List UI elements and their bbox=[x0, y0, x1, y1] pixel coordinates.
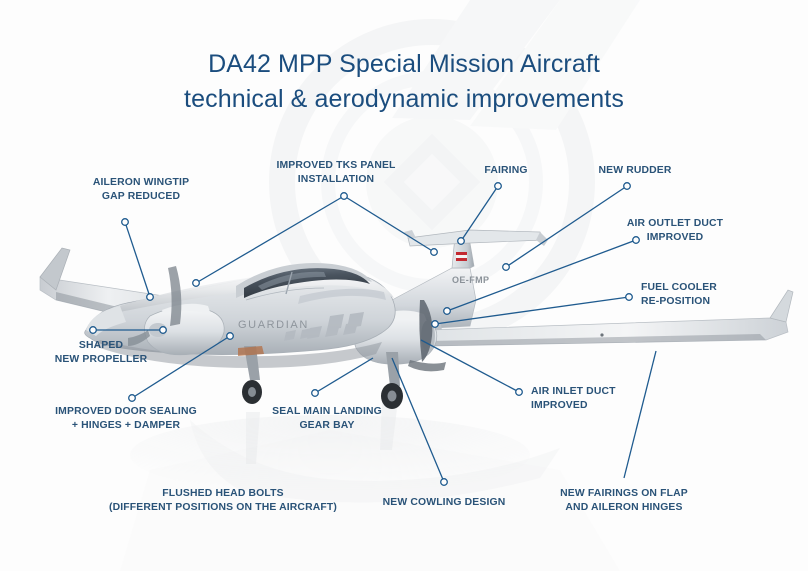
callout-line: RE-POSITION bbox=[641, 295, 717, 309]
callout-improved-door-sealing[interactable]: IMPROVED DOOR SEALING+ HINGES + DAMPER bbox=[55, 405, 197, 433]
leader-new-fairings-flap bbox=[624, 351, 656, 478]
leader-tks-panel bbox=[196, 193, 437, 283]
callout-improved-tks-panel-installation[interactable]: IMPROVED TKS PANELINSTALLATION bbox=[276, 159, 395, 187]
callout-line: FUEL COOLER bbox=[641, 281, 717, 295]
callout-seal-main-landing-gear-bay[interactable]: SEAL MAIN LANDINGGEAR BAY bbox=[272, 405, 382, 433]
callout-line: NEW COWLING DESIGN bbox=[383, 496, 506, 510]
callout-air-inlet-duct-improved[interactable]: AIR INLET DUCTIMPROVED bbox=[531, 385, 616, 413]
leader-wing-root-left bbox=[147, 294, 154, 301]
leader-seal-main-landing-gear bbox=[312, 358, 373, 396]
callout-line: NEW RUDDER bbox=[598, 164, 671, 178]
leader-fairing bbox=[461, 183, 501, 241]
callout-line: NEW FAIRINGS ON FLAP bbox=[560, 487, 688, 501]
callout-line: SHAPED bbox=[55, 339, 148, 353]
callout-line: NEW PROPELLER bbox=[55, 353, 148, 367]
callout-fairing[interactable]: FAIRING bbox=[484, 164, 527, 178]
leader-fuel-cooler bbox=[432, 294, 633, 328]
callout-aileron-wingtip-gap-reduced[interactable]: AILERON WINGTIPGAP REDUCED bbox=[93, 176, 189, 204]
leader-new-rudder bbox=[506, 183, 630, 267]
leader-air-outlet-duct bbox=[444, 237, 640, 315]
callout-line: AILERON WINGTIP bbox=[93, 176, 189, 190]
callout-line: FLUSHED HEAD BOLTS bbox=[109, 487, 337, 501]
callout-line: INSTALLATION bbox=[276, 173, 395, 187]
callout-line: AND AILERON HINGES bbox=[560, 501, 688, 515]
callout-line: IMPROVED TKS PANEL bbox=[276, 159, 395, 173]
title-line-1: DA42 MPP Special Mission Aircraft bbox=[0, 48, 808, 81]
callout-line: GEAR BAY bbox=[272, 419, 382, 433]
callout-line: IMPROVED bbox=[627, 231, 723, 245]
callout-air-outlet-duct-improved[interactable]: AIR OUTLET DUCTIMPROVED bbox=[627, 217, 723, 245]
leader-aircraft-node-b bbox=[458, 238, 465, 245]
callout-line: SEAL MAIN LANDING bbox=[272, 405, 382, 419]
callout-flushed-head-bolts[interactable]: FLUSHED HEAD BOLTS(DIFFERENT POSITIONS O… bbox=[109, 487, 337, 515]
callout-new-rudder[interactable]: NEW RUDDER bbox=[598, 164, 671, 178]
leader-aileron-wingtip bbox=[122, 219, 150, 297]
callout-line: IMPROVED DOOR SEALING bbox=[55, 405, 197, 419]
callout-line: AIR OUTLET DUCT bbox=[627, 217, 723, 231]
callout-new-fairings-on-flap[interactable]: NEW FAIRINGS ON FLAPAND AILERON HINGES bbox=[560, 487, 688, 515]
leader-shaped-new-propeller bbox=[90, 327, 167, 334]
callout-shaped-new-propeller[interactable]: SHAPEDNEW PROPELLER bbox=[55, 339, 148, 367]
callout-line: (DIFFERENT POSITIONS ON THE AIRCRAFT) bbox=[109, 501, 337, 515]
page-title: DA42 MPP Special Mission Aircraft techni… bbox=[0, 48, 808, 115]
callout-line: AIR INLET DUCT bbox=[531, 385, 616, 399]
leader-aircraft-node-a bbox=[193, 280, 200, 287]
leader-air-inlet-duct bbox=[421, 340, 522, 395]
diagram-canvas: OE-FMP bbox=[0, 0, 808, 571]
callout-line: GAP REDUCED bbox=[93, 190, 189, 204]
leader-new-cowling-design bbox=[392, 358, 447, 485]
title-line-2: technical & aerodynamic improvements bbox=[0, 83, 808, 116]
callout-new-cowling-design[interactable]: NEW COWLING DESIGN bbox=[383, 496, 506, 510]
leader-aircraft-node-c bbox=[503, 264, 510, 271]
callout-line: + HINGES + DAMPER bbox=[55, 419, 197, 433]
callout-line: IMPROVED bbox=[531, 399, 616, 413]
callout-line: FAIRING bbox=[484, 164, 527, 178]
callout-fuel-cooler-re-position[interactable]: FUEL COOLERRE-POSITION bbox=[641, 281, 717, 309]
